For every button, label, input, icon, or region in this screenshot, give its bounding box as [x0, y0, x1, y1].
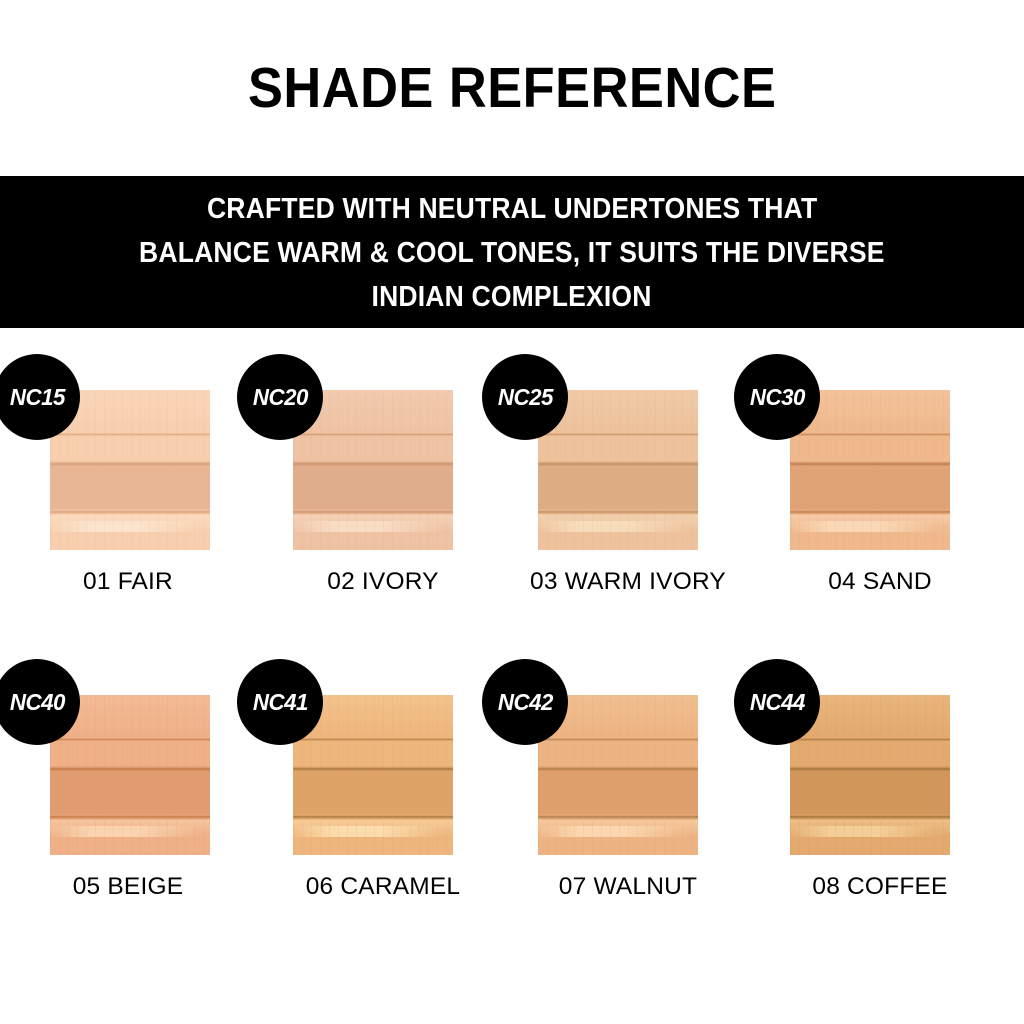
description-banner: CRAFTED WITH NEUTRAL UNDERTONES THAT BAL…: [0, 176, 1024, 328]
shade-card[interactable]: NC4408 COFFEE: [740, 665, 996, 970]
page-title-bar: SHADE REFERENCE: [0, 0, 1024, 176]
shade-code-label: NC25: [497, 384, 552, 411]
shade-card[interactable]: NC4207 WALNUT: [488, 665, 744, 970]
swatch-texture-streak: [50, 820, 210, 839]
swatch-texture-streak: [50, 738, 210, 741]
banner-line-3: INDIAN COMPLEXION: [372, 275, 652, 319]
swatch-texture-streak: [50, 462, 210, 466]
shade-code-badge[interactable]: NC44: [734, 659, 820, 745]
swatch-texture-streak: [790, 510, 950, 514]
swatch-texture-streak: [50, 826, 210, 837]
shade-name-label: 06 CARAMEL: [255, 870, 511, 903]
swatch-texture-streak: [538, 820, 698, 839]
shade-code-badge[interactable]: NC30: [734, 354, 820, 440]
swatch-wrapper: NC40: [50, 695, 210, 855]
shade-code-label: NC15: [9, 384, 64, 411]
swatch-texture-streak: [293, 510, 453, 514]
swatch-texture-streak: [790, 815, 950, 819]
shade-card[interactable]: NC4106 CARAMEL: [243, 665, 499, 970]
shade-code-label: NC30: [749, 384, 804, 411]
banner-line-1: CRAFTED WITH NEUTRAL UNDERTONES THAT: [207, 187, 817, 231]
swatch-wrapper: NC42: [538, 695, 698, 855]
page-title: SHADE REFERENCE: [248, 55, 776, 121]
shade-name-label: 05 BEIGE: [0, 870, 256, 903]
swatch-texture-streak: [50, 767, 210, 771]
swatch-texture-streak: [538, 521, 698, 532]
shade-code-badge[interactable]: NC42: [482, 659, 568, 745]
shade-card[interactable]: NC3004 SAND: [740, 360, 996, 665]
swatch-texture-streak: [538, 826, 698, 837]
swatch-texture-streak: [293, 767, 453, 771]
swatch-texture-streak: [293, 815, 453, 819]
shade-code-badge[interactable]: NC25: [482, 354, 568, 440]
shade-code-label: NC40: [9, 689, 64, 716]
swatch-texture-streak: [50, 510, 210, 514]
swatch-texture-streak: [50, 521, 210, 532]
shade-name-label: 04 SAND: [752, 565, 1008, 598]
swatch-texture-streak: [790, 462, 950, 466]
swatch-texture-streak: [538, 510, 698, 514]
swatch-texture-streak: [790, 767, 950, 771]
shade-code-label: NC44: [749, 689, 804, 716]
shade-code-badge[interactable]: NC20: [237, 354, 323, 440]
swatch-texture-streak: [790, 515, 950, 534]
swatch-texture-streak: [790, 738, 950, 741]
shade-name-label: 08 COFFEE: [752, 870, 1008, 903]
swatch-texture-streak: [50, 433, 210, 436]
shade-code-label: NC20: [252, 384, 307, 411]
shade-row-1: NC1501 FAIRNC2002 IVORYNC2503 WARM IVORY…: [0, 360, 1024, 665]
swatch-texture-streak: [538, 433, 698, 436]
swatch-texture-streak: [293, 521, 453, 532]
swatch-texture-streak: [293, 820, 453, 839]
shade-code-label: NC42: [497, 689, 552, 716]
banner-line-2: BALANCE WARM & COOL TONES, IT SUITS THE …: [139, 231, 885, 275]
swatch-wrapper: NC25: [538, 390, 698, 550]
swatch-texture-streak: [538, 515, 698, 534]
swatch-texture-streak: [293, 738, 453, 741]
swatch-texture-streak: [50, 515, 210, 534]
swatch-texture-streak: [293, 826, 453, 837]
shade-reference-page: SHADE REFERENCE CRAFTED WITH NEUTRAL UND…: [0, 0, 1024, 1024]
swatch-wrapper: NC15: [50, 390, 210, 550]
shade-code-label: NC41: [252, 689, 307, 716]
shade-card[interactable]: NC1501 FAIR: [0, 360, 256, 665]
shade-name-label: 02 IVORY: [255, 565, 511, 598]
swatch-wrapper: NC41: [293, 695, 453, 855]
swatch-texture-streak: [538, 738, 698, 741]
shade-name-label: 03 WARM IVORY: [500, 565, 756, 598]
swatch-texture-streak: [293, 462, 453, 466]
swatch-texture-streak: [790, 433, 950, 436]
shade-name-label: 01 FAIR: [0, 565, 256, 598]
swatch-texture-streak: [538, 462, 698, 466]
swatch-wrapper: NC20: [293, 390, 453, 550]
swatch-texture-streak: [538, 815, 698, 819]
swatch-texture-streak: [790, 826, 950, 837]
swatch-texture-streak: [293, 515, 453, 534]
swatch-texture-streak: [50, 815, 210, 819]
shade-card[interactable]: NC2503 WARM IVORY: [488, 360, 744, 665]
swatch-texture-streak: [293, 433, 453, 436]
shade-card[interactable]: NC2002 IVORY: [243, 360, 499, 665]
shade-grid: NC1501 FAIRNC2002 IVORYNC2503 WARM IVORY…: [0, 360, 1024, 970]
swatch-texture-streak: [538, 767, 698, 771]
shade-code-badge[interactable]: NC41: [237, 659, 323, 745]
swatch-texture-streak: [790, 820, 950, 839]
shade-card[interactable]: NC4005 BEIGE: [0, 665, 256, 970]
swatch-texture-streak: [790, 521, 950, 532]
swatch-wrapper: NC30: [790, 390, 950, 550]
shade-name-label: 07 WALNUT: [500, 870, 756, 903]
swatch-wrapper: NC44: [790, 695, 950, 855]
shade-row-2: NC4005 BEIGENC4106 CARAMELNC4207 WALNUTN…: [0, 665, 1024, 970]
